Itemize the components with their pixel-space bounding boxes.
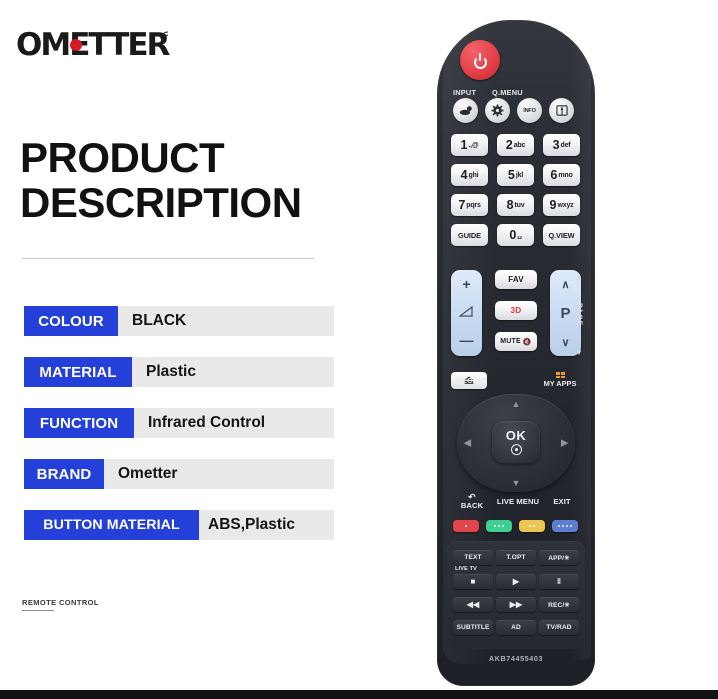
record-button[interactable]: REC/✳ <box>539 597 579 612</box>
channel-down-icon: ∨ <box>561 336 569 349</box>
page-title-line-1: PRODUCT <box>20 136 360 181</box>
key-9[interactable]: 9wxyz <box>543 194 580 216</box>
power-icon <box>473 53 488 68</box>
key-5-sub: jkl <box>516 172 523 179</box>
brand-logo-signal-icon <box>159 30 171 42</box>
brand-logo: OMETTER <box>16 28 168 62</box>
spec-row-button-material: BUTTON MATERIAL ABS,Plastic <box>24 510 334 540</box>
key-1[interactable]: 1.,@ <box>451 134 488 156</box>
brand-logo-dot <box>70 39 82 51</box>
page-title: PRODUCT DESCRIPTION <box>20 136 360 225</box>
key-9-num: 9 <box>550 199 557 212</box>
key-4[interactable]: 4ghi <box>451 164 488 186</box>
key-8-num: 8 <box>507 199 514 212</box>
page-label: PAGE <box>576 303 583 326</box>
yellow-key[interactable] <box>519 520 545 532</box>
fav-button[interactable]: FAV <box>495 270 537 289</box>
key-guide[interactable]: GUIDE <box>451 224 488 246</box>
tv-radio-button[interactable]: TV/RAD <box>539 620 579 635</box>
key-1-num: 1 <box>460 139 467 152</box>
my-apps-button[interactable]: MY APPS <box>539 372 581 388</box>
key-guide-label: GUIDE <box>458 231 481 240</box>
green-key[interactable] <box>486 520 512 532</box>
q-menu-label: Q.MENU <box>492 88 523 97</box>
spec-row-colour: COLOUR BLACK <box>24 306 334 336</box>
spec-value-material: Plastic <box>146 357 196 387</box>
volume-up-label: + <box>451 277 482 291</box>
spec-key-brand: BRAND <box>24 459 104 489</box>
key-6[interactable]: 6mno <box>543 164 580 186</box>
stop-button[interactable]: ■ <box>453 574 493 589</box>
spec-row-brand: BRAND Ometter <box>24 459 334 489</box>
ok-ring-icon <box>511 444 522 455</box>
pause-icon: ‖ <box>557 578 561 586</box>
stop-icon: ■ <box>471 578 476 586</box>
volume-rocker[interactable]: + — <box>451 270 482 356</box>
spec-key-colour: COLOUR <box>24 306 118 336</box>
three-d-button[interactable]: 3D <box>495 301 537 320</box>
footer-caption: REMOTE CONTROL <box>22 598 99 611</box>
footer-caption-underline <box>22 610 54 611</box>
play-icon: ▶ <box>513 578 519 586</box>
power-button[interactable] <box>460 40 500 80</box>
color-key-row <box>453 520 579 533</box>
volume-speaker-icon <box>459 306 474 317</box>
key-1-sub: .,@ <box>468 142 478 149</box>
spec-value-button-material: ABS,Plastic <box>208 510 295 540</box>
spec-key-button-material: BUTTON MATERIAL <box>24 510 199 540</box>
info-label: INFO <box>523 108 536 114</box>
dpad-left-icon[interactable]: ◀ <box>464 438 471 449</box>
app-star-button[interactable]: APP/✳ <box>539 550 579 565</box>
ok-button[interactable]: OK <box>492 421 540 463</box>
key-8[interactable]: 8tuv <box>497 194 534 216</box>
text-button[interactable]: TEXT <box>453 550 493 565</box>
rewind-button[interactable]: ◀◀ <box>453 597 493 612</box>
key-5-num: 5 <box>508 169 515 182</box>
dpad-down-icon[interactable]: ▼ <box>512 478 521 488</box>
guide-book-glyph <box>556 105 568 116</box>
key-q-view-label: Q.VIEW <box>548 231 574 240</box>
guide-book-icon[interactable] <box>549 98 574 123</box>
spec-list: COLOUR BLACK MATERIAL Plastic FUNCTION I… <box>24 306 334 561</box>
spec-value-function: Infrared Control <box>148 408 265 438</box>
input-label: INPUT <box>453 88 476 97</box>
key-7[interactable]: 7pqrs <box>451 194 488 216</box>
key-8-sub: tuv <box>515 202 525 209</box>
volume-channel-cluster: + — FAV 3D MUTE 🔇 ∧ P ∨ <box>451 270 581 360</box>
recent-button[interactable]: RECENT <box>451 372 493 388</box>
back-label: BACK <box>461 501 483 510</box>
product-description-panel: OMETTER PRODUCT DESCRIPTION COLOUR BLACK… <box>0 0 420 699</box>
red-key[interactable] <box>453 520 479 532</box>
my-apps-label: MY APPS <box>544 379 577 388</box>
key-3[interactable]: 3def <box>543 134 580 156</box>
spec-value-colour: BLACK <box>132 306 186 336</box>
key-4-sub: ghi <box>469 172 479 179</box>
blue-key[interactable] <box>552 520 578 532</box>
key-q-view[interactable]: Q.VIEW <box>543 224 580 246</box>
key-2-sub: abc <box>514 142 525 149</box>
nav-bottom-row: ↶ BACK LIVE MENU EXIT <box>451 490 581 512</box>
key-7-sub: pqrs <box>466 202 480 209</box>
function-pad: TEXT T.OPT APP/✳ LIVE TV ■ ▶ ‖ ◀◀ ▶▶ REC… <box>447 541 585 649</box>
remote-control-image: INPUT Q.MENU INFO <box>437 20 595 686</box>
key-0-num: 0 <box>509 229 516 242</box>
back-button[interactable]: ↶ BACK <box>451 490 493 512</box>
spec-row-function: FUNCTION Infrared Control <box>24 408 334 438</box>
pause-button[interactable]: ‖ <box>539 574 579 589</box>
key-3-sub: def <box>561 142 571 149</box>
key-6-sub: mno <box>558 172 572 179</box>
key-7-num: 7 <box>458 199 465 212</box>
spec-key-function: FUNCTION <box>24 408 134 438</box>
key-0-sub: ␣ <box>517 231 521 239</box>
dpad[interactable]: ▲ ▼ ◀ ▶ OK <box>457 394 575 492</box>
page-label-group: ▲ PAGE ▼ <box>573 275 585 355</box>
settings-gear-icon[interactable] <box>485 98 510 123</box>
mute-button[interactable]: MUTE 🔇 <box>495 332 537 351</box>
mute-speaker-icon: 🔇 <box>523 338 532 346</box>
fast-forward-button[interactable]: ▶▶ <box>496 597 536 612</box>
key-9-sub: wxyz <box>558 202 574 209</box>
key-4-num: 4 <box>461 169 468 182</box>
key-3-num: 3 <box>553 139 560 152</box>
model-number: AKB74455403 <box>437 654 595 663</box>
subtitle-button[interactable]: SUBTITLE <box>453 620 493 635</box>
input-source-glyph <box>459 106 473 116</box>
key-5[interactable]: 5jkl <box>497 164 534 186</box>
live-menu-button[interactable]: LIVE MENU <box>496 490 540 512</box>
apps-grid-icon <box>556 372 565 378</box>
dpad-right-icon[interactable]: ▶ <box>561 438 568 449</box>
play-button[interactable]: ▶ <box>496 574 536 589</box>
rewind-icon: ◀◀ <box>467 601 480 609</box>
spec-key-material: MATERIAL <box>24 357 132 387</box>
input-source-icon[interactable] <box>453 98 478 123</box>
live-tv-label: LIVE TV <box>455 566 477 572</box>
mute-label: MUTE <box>500 338 521 345</box>
channel-letter: P <box>560 306 570 321</box>
bottom-bar <box>0 690 718 699</box>
key-0[interactable]: 0␣ <box>497 224 534 246</box>
title-divider <box>22 258 314 259</box>
page-down-caret-icon: ▼ <box>575 348 583 357</box>
footer-caption-text: REMOTE CONTROL <box>22 598 99 607</box>
ad-button[interactable]: AD <box>496 620 536 635</box>
spec-row-material: MATERIAL Plastic <box>24 357 334 387</box>
fast-forward-icon: ▶▶ <box>510 601 523 609</box>
exit-button[interactable]: EXIT <box>543 490 581 512</box>
t-opt-button[interactable]: T.OPT <box>496 550 536 565</box>
key-2[interactable]: 2abc <box>497 134 534 156</box>
key-2-num: 2 <box>506 139 513 152</box>
spec-value-brand: Ometter <box>118 459 177 489</box>
page-up-caret-icon: ▲ <box>575 273 583 282</box>
volume-down-label: — <box>451 333 482 347</box>
brand-logo-text: OMETTER <box>16 30 168 61</box>
ok-label: OK <box>506 429 527 442</box>
page-title-line-2: DESCRIPTION <box>20 181 360 226</box>
channel-up-icon: ∧ <box>561 278 569 291</box>
info-icon[interactable]: INFO <box>517 98 542 123</box>
gear-glyph <box>491 104 504 117</box>
dpad-up-icon[interactable]: ▲ <box>512 399 521 409</box>
nav-top-row: RECENT MY APPS <box>451 372 581 392</box>
key-6-num: 6 <box>550 169 557 182</box>
